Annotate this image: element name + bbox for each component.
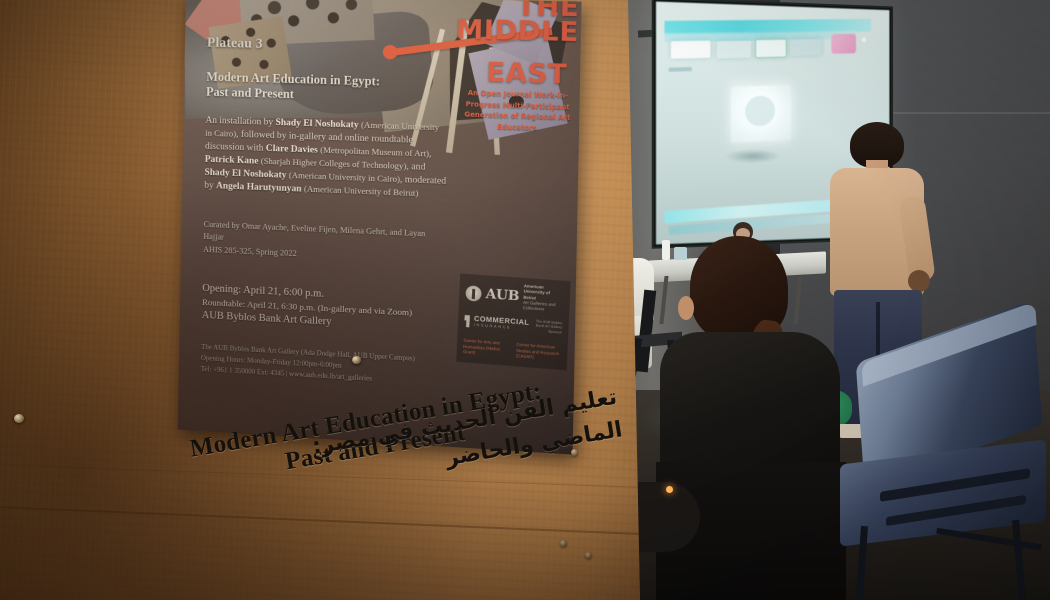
chair-back xyxy=(636,290,657,373)
screen-label xyxy=(669,67,692,72)
gallery-partition-wall: THE MIDDLE EAST An Open Journal Work-in-… xyxy=(0,0,660,600)
status-dot-icon xyxy=(862,37,867,42)
gallery-room-background xyxy=(600,0,1050,600)
chair-leg xyxy=(1012,520,1027,600)
empty-blue-chair xyxy=(840,330,1050,600)
main-speaker-video xyxy=(731,85,791,143)
participant-tile xyxy=(717,41,752,59)
participant-tile-active xyxy=(755,39,787,59)
participant-tile xyxy=(671,41,711,59)
woman-ear xyxy=(678,296,694,320)
participant-tile xyxy=(790,39,822,56)
gallery-photo-scene: THE MIDDLE EAST An Open Journal Work-in-… xyxy=(0,0,1050,600)
chair-leg-crossbar xyxy=(936,528,1042,551)
screen-shadow xyxy=(725,149,781,164)
presenter-hand xyxy=(908,270,930,292)
wall-lighting-vignette xyxy=(0,0,660,600)
foreground-seated-woman xyxy=(656,236,842,600)
poster-pin xyxy=(14,414,24,423)
participant-tile-pink xyxy=(831,34,856,54)
light-reflection-point xyxy=(666,486,673,493)
poster-pin xyxy=(352,356,361,364)
